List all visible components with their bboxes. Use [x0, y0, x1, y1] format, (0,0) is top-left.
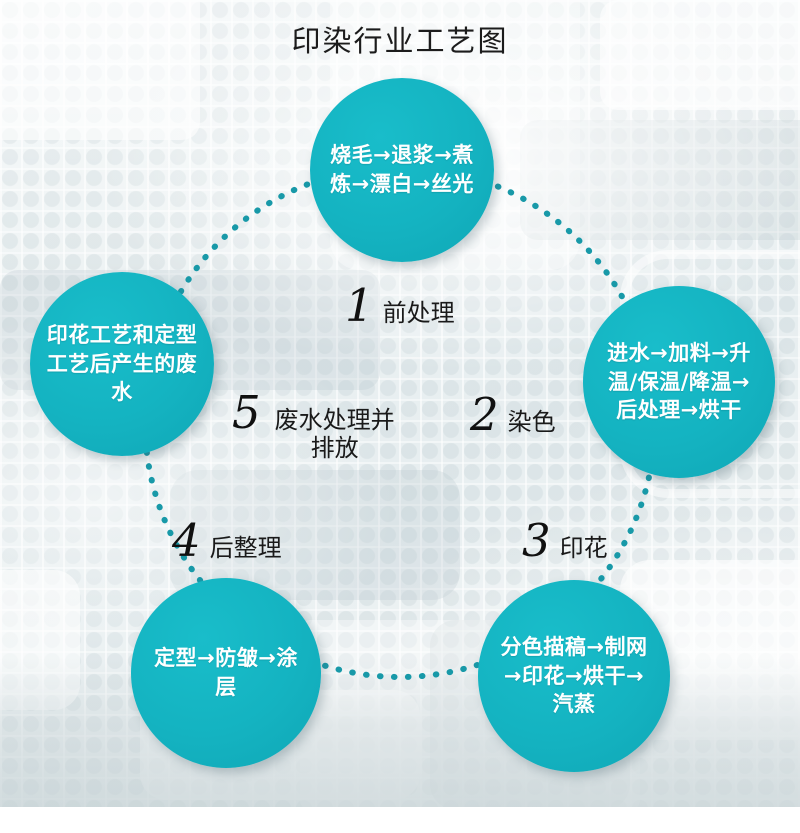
- process-node-4-text: 定型→防皱→涂层: [131, 644, 321, 702]
- process-diagram-canvas: 烧毛→退浆→煮炼→漂白→丝光 进水→加料→升温/保温/降温→后处理→烘干 分色描…: [0, 0, 800, 833]
- process-node-5[interactable]: 印花工艺和定型工艺后产生的废水: [30, 272, 214, 456]
- step-caption-5[interactable]: 5 废水处理并排放: [232, 390, 400, 463]
- process-node-1[interactable]: 烧毛→退浆→煮炼→漂白→丝光: [310, 78, 494, 262]
- step-label-1: 前处理: [383, 299, 455, 327]
- step-label-3: 印花: [560, 534, 608, 562]
- step-number-2: 2: [470, 392, 499, 437]
- process-node-4[interactable]: 定型→防皱→涂层: [131, 578, 321, 768]
- process-node-2[interactable]: 进水→加料→升温/保温/降温→后处理→烘干: [583, 286, 775, 478]
- step-label-4: 后整理: [210, 534, 282, 562]
- step-caption-4[interactable]: 4 后整理: [172, 518, 282, 563]
- step-number-1: 1: [345, 283, 374, 328]
- step-caption-3[interactable]: 3 印花: [522, 518, 608, 563]
- process-node-2-text: 进水→加料→升温/保温/降温→后处理→烘干: [583, 339, 775, 426]
- process-node-3-text: 分色描稿→制网→印花→烘干→汽蒸: [478, 633, 670, 720]
- process-node-1-text: 烧毛→退浆→煮炼→漂白→丝光: [310, 141, 494, 199]
- step-number-3: 3: [522, 518, 551, 563]
- step-number-5: 5: [232, 390, 261, 435]
- process-node-5-text: 印花工艺和定型工艺后产生的废水: [30, 321, 214, 408]
- step-label-2: 染色: [508, 408, 556, 436]
- process-node-3[interactable]: 分色描稿→制网→印花→烘干→汽蒸: [478, 580, 670, 772]
- step-number-4: 4: [172, 518, 201, 563]
- step-caption-1[interactable]: 1 前处理: [345, 283, 455, 328]
- step-caption-2[interactable]: 2 染色: [470, 392, 556, 437]
- page-title: 印染行业工艺图: [0, 18, 800, 60]
- step-label-5: 废水处理并排放: [270, 406, 400, 463]
- bottom-white-strip: [0, 807, 800, 833]
